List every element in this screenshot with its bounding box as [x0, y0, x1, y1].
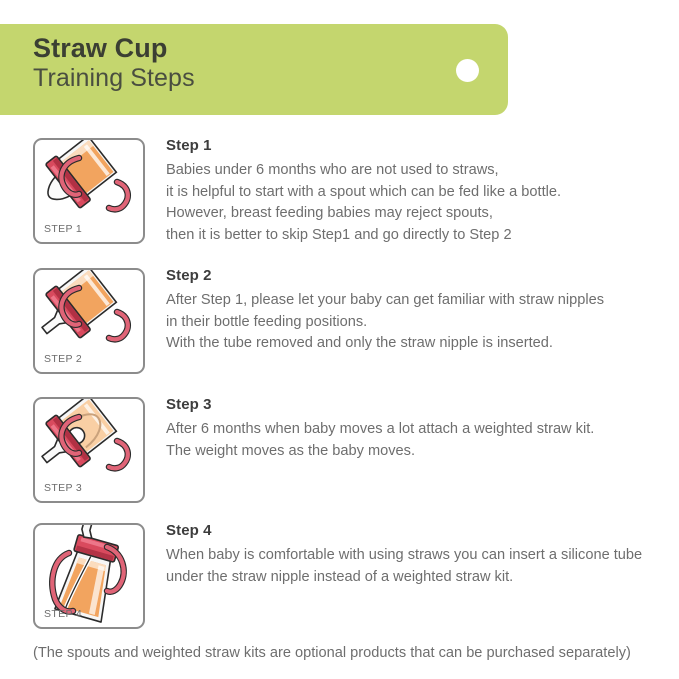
footer-note: (The spouts and weighted straw kits are …: [33, 645, 631, 661]
tag-hole-icon: [456, 59, 479, 82]
step-illustration-3: STEP 3: [33, 397, 145, 503]
header-banner: Straw Cup Training Steps: [0, 24, 508, 115]
step-illustration-4: STEP 4: [33, 523, 145, 629]
step-line: When baby is comfortable with using stra…: [166, 545, 671, 567]
step-heading: Step 3: [166, 397, 671, 412]
page-subtitle: Training Steps: [33, 66, 195, 91]
step-figure-label: STEP 4: [44, 608, 82, 620]
step-text-block: Step 1 Babies under 6 months who are not…: [166, 138, 671, 246]
step-text-block: Step 2 After Step 1, please let your bab…: [166, 268, 671, 355]
step-illustration-1: STEP 1: [33, 138, 145, 244]
step-heading: Step 4: [166, 523, 671, 538]
step-line: After Step 1, please let your baby can g…: [166, 290, 671, 312]
step-line: then it is better to skip Step1 and go d…: [166, 225, 671, 247]
banner-title-group: Straw Cup Training Steps: [33, 35, 195, 91]
step-line: However, breast feeding babies may rejec…: [166, 203, 671, 225]
step-figure-label: STEP 3: [44, 482, 82, 494]
page-title: Straw Cup: [33, 35, 195, 62]
step-line: The weight moves as the baby moves.: [166, 441, 671, 463]
step-figure-label: STEP 2: [44, 353, 82, 365]
step-heading: Step 2: [166, 268, 671, 283]
step-line: in their bottle feeding positions.: [166, 312, 671, 334]
step-line: After 6 months when baby moves a lot att…: [166, 419, 671, 441]
step-heading: Step 1: [166, 138, 671, 153]
step-figure-label: STEP 1: [44, 223, 82, 235]
step-line: under the straw nipple instead of a weig…: [166, 567, 671, 589]
step-line: Babies under 6 months who are not used t…: [166, 160, 671, 182]
step-text-block: Step 4 When baby is comfortable with usi…: [166, 523, 671, 588]
step-line: With the tube removed and only the straw…: [166, 333, 671, 355]
step-line: it is helpful to start with a spout whic…: [166, 182, 671, 204]
step-illustration-2: STEP 2: [33, 268, 145, 374]
step-text-block: Step 3 After 6 months when baby moves a …: [166, 397, 671, 462]
